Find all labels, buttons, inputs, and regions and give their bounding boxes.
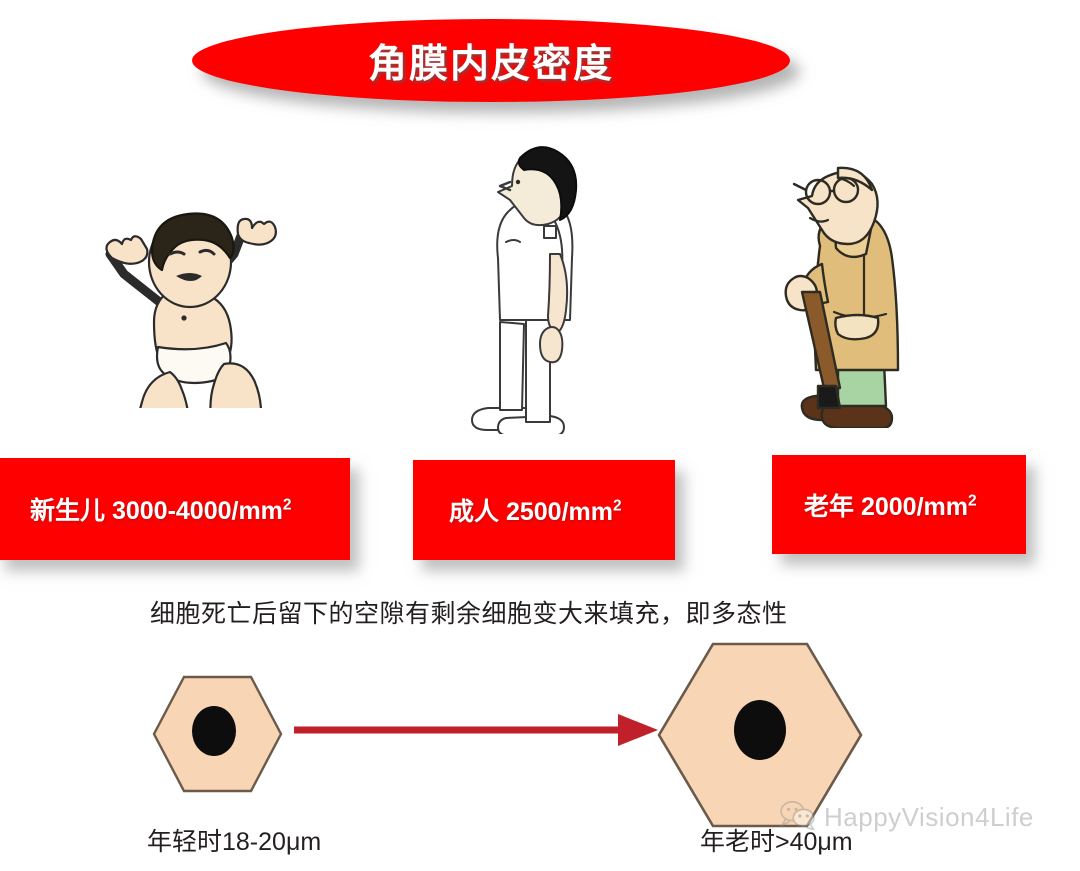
baby-illustration [66,192,294,408]
young-cell-size-label: 年轻时18-20μm [147,822,321,858]
density-exponent-adult: 2 [613,498,622,515]
density-prefix-newborn: 新生儿 [30,497,112,525]
density-box-adult: 成人 2500/mm2 [413,460,675,560]
density-prefix-adult: 成人 [449,498,506,526]
nucleus-large [734,700,786,760]
density-prefix-elderly: 老年 [804,493,861,521]
watermark: HappyVision4Life [778,800,1034,835]
growth-arrow [292,708,660,752]
density-box-elderly: 老年 2000/mm2 [772,455,1026,554]
nucleus-small [192,706,236,756]
page-title: 角膜内皮密度 [368,33,614,89]
density-box-newborn: 新生儿 3000-4000/mm2 [0,458,350,560]
density-value-adult: 2500/mm [506,498,613,526]
density-exponent-newborn: 2 [283,497,292,514]
title-banner: 角膜内皮密度 [192,19,790,102]
wechat-icon [778,800,816,835]
density-label-newborn: 新生儿 3000-4000/mm2 [30,491,292,527]
watermark-label: HappyVision4Life [824,802,1034,833]
density-value-elderly: 2000/mm [861,493,968,521]
density-label-elderly: 老年 2000/mm2 [804,487,977,523]
elderly-illustration [760,160,922,428]
density-value-newborn: 3000-4000/mm [112,497,283,525]
polymegethism-caption: 细胞死亡后留下的空隙有剩余细胞变大来填充，即多态性 [150,594,788,630]
young-endothelial-cell [150,673,285,795]
density-label-adult: 成人 2500/mm2 [449,492,622,528]
density-exponent-elderly: 2 [968,492,977,509]
adult-illustration [462,146,598,434]
slide-canvas: 角膜内皮密度 [0,0,1080,871]
